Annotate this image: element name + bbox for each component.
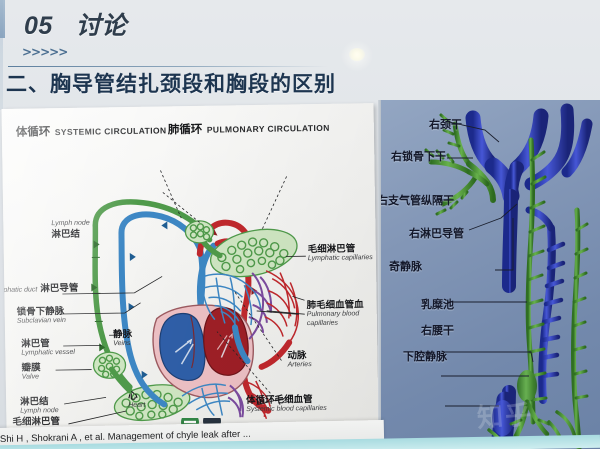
header-divider-rule <box>8 66 328 67</box>
watermark-text: 知乎 <box>476 394 534 435</box>
diagram-label-systemic-blood-capillaries: 体循环毛细血管 Systemic blood capillaries <box>246 394 327 415</box>
diagram-label-lymph-node-left: 淋巴结 Lymph node <box>20 396 59 416</box>
slide-section-header: 05 讨论 <box>24 6 127 42</box>
chevron-divider-icon: >>>>> <box>22 45 67 59</box>
diagram-label-lymph-node-top: Lymph node 淋巴结 <box>51 220 90 240</box>
panel-label-inferior-vena-cava: 下腔静脉 <box>403 348 447 364</box>
diagram-label-valve: 瓣膜 Valve <box>21 362 40 382</box>
diagram-label-subclavian-vein: 锁骨下静脉 Subclavian vein <box>17 306 66 326</box>
lymphatic-trunks-panel: .vv{fill:none;stroke:url(#vg);stroke-lin… <box>381 100 600 449</box>
diagram-label-pulmonary-blood-capillaries: 肺毛细血管血 Pulmonary blood capillaries <box>307 299 379 328</box>
panel-label-azygos-vein: 奇静脉 <box>389 258 422 274</box>
left-edge-stripe-blue <box>0 0 5 38</box>
lymph-node-left <box>93 352 125 378</box>
diagram-label-heart: 心 Heart <box>128 391 145 411</box>
section-title: 讨论 <box>76 12 127 40</box>
diagram-label-veins: 静脉 Veins <box>113 329 132 349</box>
panel-label-cisterna-chyli: 乳糜池 <box>421 296 454 312</box>
slide-photo: 05 讨论 >>>>> 二、胸导管结扎颈段和胸段的区别 体循环 SYSTEMIC… <box>0 0 600 449</box>
page-title: 二、胸导管结扎颈段和胸段的区别 <box>6 68 336 98</box>
panel-label-right-lumbar-trunk: 右腰干 <box>421 322 454 338</box>
section-number: 05 <box>24 12 53 40</box>
diagram-label-arteries: 动脉 Arteries <box>287 350 311 370</box>
diagram-label-lymphatic-capillaries-right: 毛细淋巴管 Lymphatic capillaries <box>308 243 373 264</box>
circulation-anatomy-artwork: .gl{fill:none;stroke:#4f9a4a;stroke-widt… <box>1 103 378 431</box>
panel-label-right-jugular-trunk: 右颈干 <box>429 116 462 132</box>
panel-label-right-subclavian-trunk: 右锁骨下干 <box>391 148 446 164</box>
panel-label-right-lymphatic-duct: 右淋巴导管 <box>409 225 464 241</box>
panel-label-right-bronchomediastinal-trunk: 右支气管纵隔干 <box>381 192 454 208</box>
diagram-label-lymphatic-vessel: 淋巴管 Lymphatic vessel <box>21 338 75 358</box>
circulation-diagram-card: 体循环 SYSTEMIC CIRCULATION 肺循环 PULMONARY C… <box>1 103 378 431</box>
ceiling-light-glare <box>349 48 365 61</box>
